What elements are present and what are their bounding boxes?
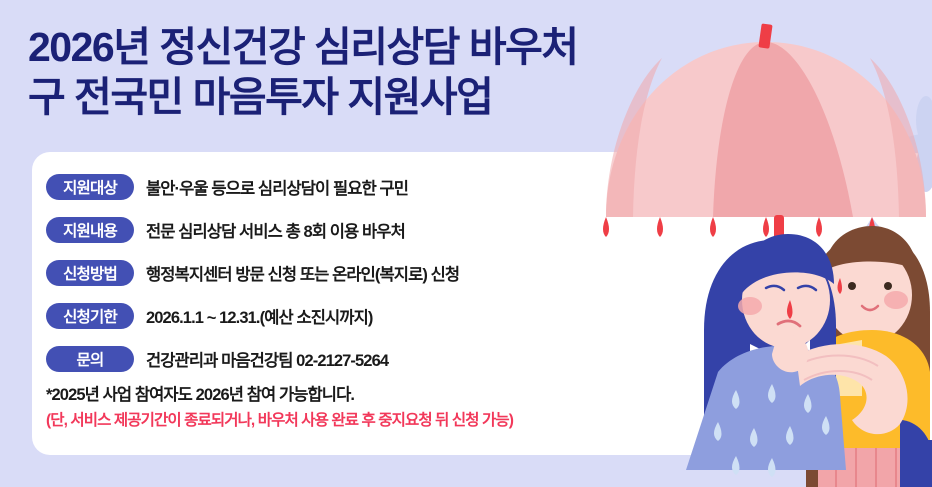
info-row: 지원내용 전문 심리상담 서비스 총 8회 이용 바우처 — [46, 208, 459, 251]
info-row: 신청기한 2026.1.1 ~ 12.31.(예산 소진시까지) — [46, 294, 459, 337]
info-rows: 지원대상 불안·우울 등으로 심리상담이 필요한 구민 지원내용 전문 심리상담… — [46, 165, 459, 380]
footnote-primary: *2025년 사업 참여자도 2026년 참여 가능합니다. — [46, 382, 513, 408]
info-row: 문의 건강관리과 마음건강팀 02-2127-5264 — [46, 337, 459, 380]
badge-inquiry: 문의 — [46, 346, 134, 372]
row-text-method: 행정복지센터 방문 신청 또는 온라인(복지로) 신청 — [146, 261, 459, 285]
badge-deadline: 신청기한 — [46, 303, 134, 329]
row-text-target: 불안·우울 등으로 심리상담이 필요한 구민 — [146, 175, 408, 199]
title-line-2: 구 전국민 마음투자 지원사업 — [28, 72, 578, 122]
row-text-content: 전문 심리상담 서비스 총 8회 이용 바우처 — [146, 218, 405, 242]
row-text-inquiry: 건강관리과 마음건강팀 02-2127-5264 — [146, 347, 388, 371]
info-row: 신청방법 행정복지센터 방문 신청 또는 온라인(복지로) 신청 — [46, 251, 459, 294]
footnotes: *2025년 사업 참여자도 2026년 참여 가능합니다. (단, 서비스 제… — [46, 382, 513, 434]
vouchers-promo-banner: 2026년 정신건강 심리상담 바우처 구 전국민 마음투자 지원사업 — [0, 0, 932, 487]
row-text-deadline: 2026.1.1 ~ 12.31.(예산 소진시까지) — [146, 304, 372, 328]
badge-target: 지원대상 — [46, 174, 134, 200]
badge-content: 지원내용 — [46, 217, 134, 243]
badge-method: 신청방법 — [46, 260, 134, 286]
title-line-1: 2026년 정신건강 심리상담 바우처 — [28, 22, 578, 72]
info-row: 지원대상 불안·우울 등으로 심리상담이 필요한 구민 — [46, 165, 459, 208]
page-title: 2026년 정신건강 심리상담 바우처 구 전국민 마음투자 지원사업 — [28, 22, 578, 122]
footnote-secondary: (단, 서비스 제공기간이 종료되거나, 바우처 사용 완료 후 중지요청 뒤 … — [46, 408, 513, 434]
